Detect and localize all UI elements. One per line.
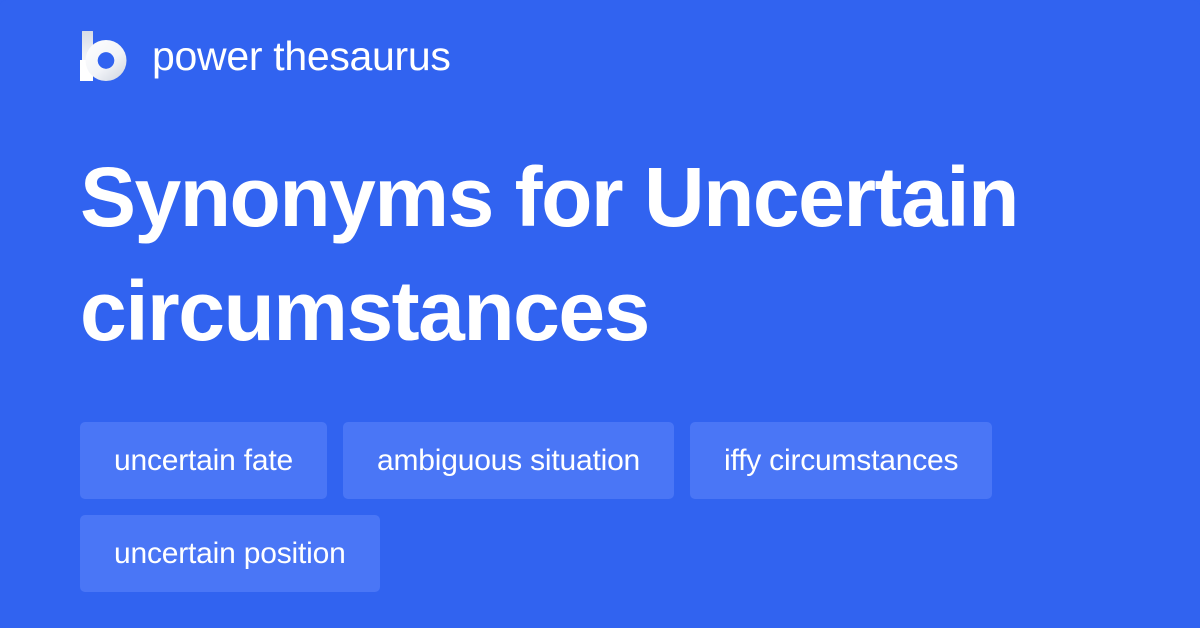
page-title-line-1: Synonyms for Uncertain <box>80 140 1090 254</box>
synonym-chip[interactable]: uncertain fate <box>80 422 327 499</box>
share-card: power thesaurus Synonyms for Uncertain c… <box>0 0 1200 628</box>
synonym-chip[interactable]: ambiguous situation <box>343 422 674 499</box>
synonym-chip[interactable]: iffy circumstances <box>690 422 992 499</box>
brand-name: power thesaurus <box>152 36 451 77</box>
page-title: Synonyms for Uncertain circumstances <box>80 140 1090 368</box>
synonym-chip-list: uncertain fate ambiguous situation iffy … <box>80 422 1120 592</box>
power-thesaurus-b-logo-icon <box>80 31 130 81</box>
brand-header[interactable]: power thesaurus <box>80 28 451 84</box>
synonym-chip[interactable]: uncertain position <box>80 515 380 592</box>
page-title-line-2: circumstances <box>80 254 1090 368</box>
